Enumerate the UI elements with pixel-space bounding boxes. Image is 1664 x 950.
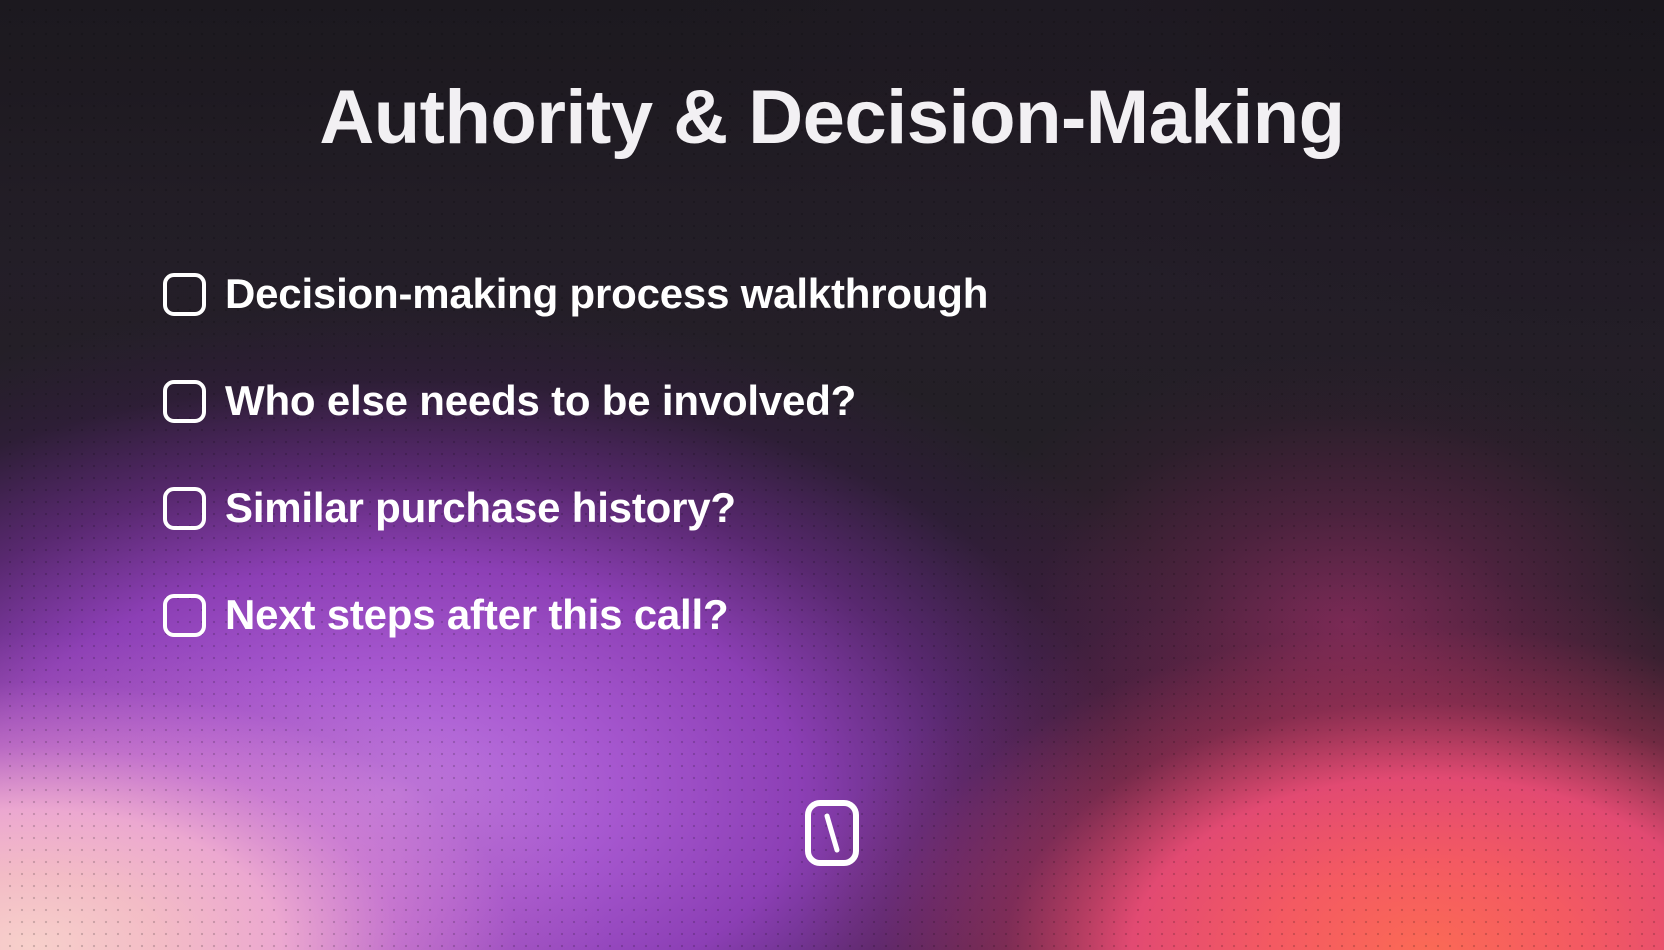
slide-content: Authority & Decision-Making Decision-mak… bbox=[0, 0, 1664, 950]
checklist-item[interactable]: Decision-making process walkthrough bbox=[163, 262, 988, 326]
checkbox-empty-icon[interactable] bbox=[163, 594, 206, 637]
checkbox-empty-icon[interactable] bbox=[163, 273, 206, 316]
checklist-item-label: Decision-making process walkthrough bbox=[225, 273, 988, 315]
checklist-item[interactable]: Similar purchase history? bbox=[163, 476, 988, 540]
checklist-item-label: Next steps after this call? bbox=[225, 594, 728, 636]
checklist-item[interactable]: Who else needs to be involved? bbox=[163, 369, 988, 433]
rounded-square-backslash-logo-icon bbox=[805, 800, 859, 866]
checklist-item-label: Similar purchase history? bbox=[225, 487, 736, 529]
checklist: Decision-making process walkthrough Who … bbox=[163, 262, 988, 690]
checkbox-empty-icon[interactable] bbox=[163, 380, 206, 423]
checkbox-empty-icon[interactable] bbox=[163, 487, 206, 530]
checklist-item-label: Who else needs to be involved? bbox=[225, 380, 856, 422]
presentation-slide: Authority & Decision-Making Decision-mak… bbox=[0, 0, 1664, 950]
checklist-item[interactable]: Next steps after this call? bbox=[163, 583, 988, 647]
slide-title: Authority & Decision-Making bbox=[0, 78, 1664, 157]
